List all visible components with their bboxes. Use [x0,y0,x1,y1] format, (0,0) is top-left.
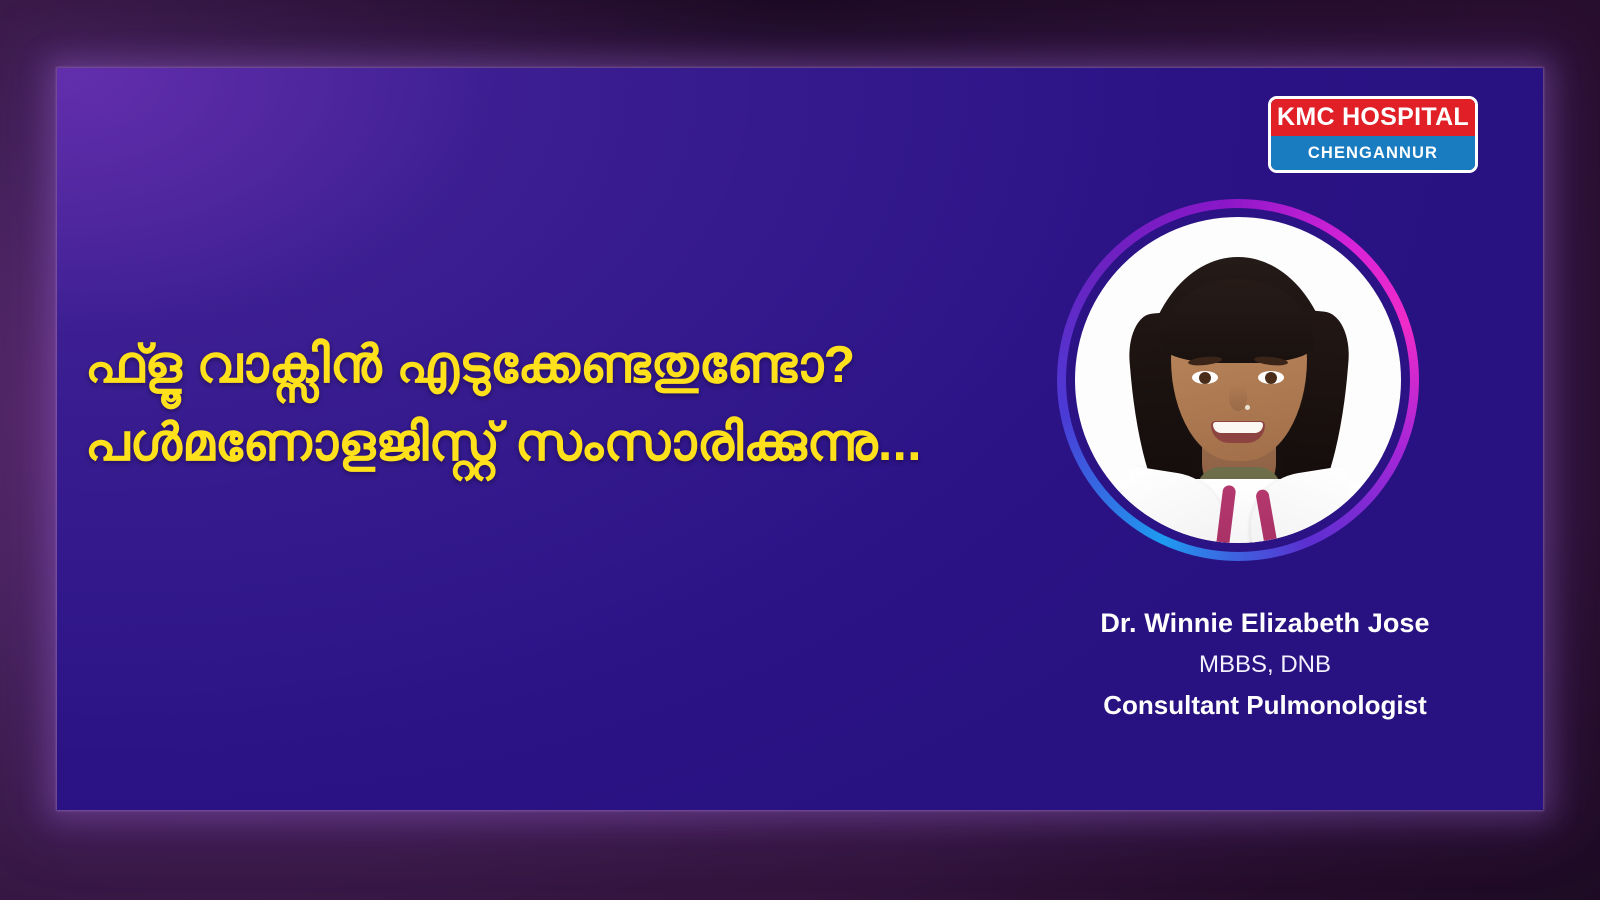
logo-red-band: KMC HOSPITAL [1271,99,1475,136]
eye-right [1258,371,1284,384]
portrait-photo [1075,217,1401,543]
doctor-designation: Consultant Pulmonologist [987,690,1543,721]
poster-card: KMC HOSPITAL CHENGANNUR ഫ്ളൂ വാക്സിൻ എടു… [57,68,1543,810]
nose-stud [1245,405,1250,410]
headline-line-2: പൾമണോളജിസ്റ്റ് സംസാരിക്കുന്നു... [85,406,1045,482]
portrait-inner-disc [1066,208,1410,552]
doctor-name: Dr. Winnie Elizabeth Jose [987,608,1543,640]
eye-left [1192,371,1218,384]
hospital-logo: KMC HOSPITAL CHENGANNUR [1268,96,1478,173]
logo-hospital-name: KMC HOSPITAL [1277,105,1469,130]
doctor-credentials: Dr. Winnie Elizabeth Jose MBBS, DNB Cons… [987,608,1543,721]
logo-blue-band: CHENGANNUR [1271,136,1475,170]
portrait-gradient-ring [1057,199,1419,561]
headline-line-1: ഫ്ളൂ വാക്സിൻ എടുക്കേണ്ടതുണ്ടോ? [85,328,1045,404]
headline-block: ഫ്ളൂ വാക്സിൻ എടുക്കേണ്ടതുണ്ടോ? പൾമണോളജിസ… [85,328,1045,482]
teeth [1213,422,1263,433]
doctor-qualifications: MBBS, DNB [987,651,1543,679]
doctor-portrait [1057,199,1419,561]
poster-stage: KMC HOSPITAL CHENGANNUR ഫ്ളൂ വാക്സിൻ എടു… [0,0,1600,900]
logo-branch-name: CHENGANNUR [1308,145,1438,162]
